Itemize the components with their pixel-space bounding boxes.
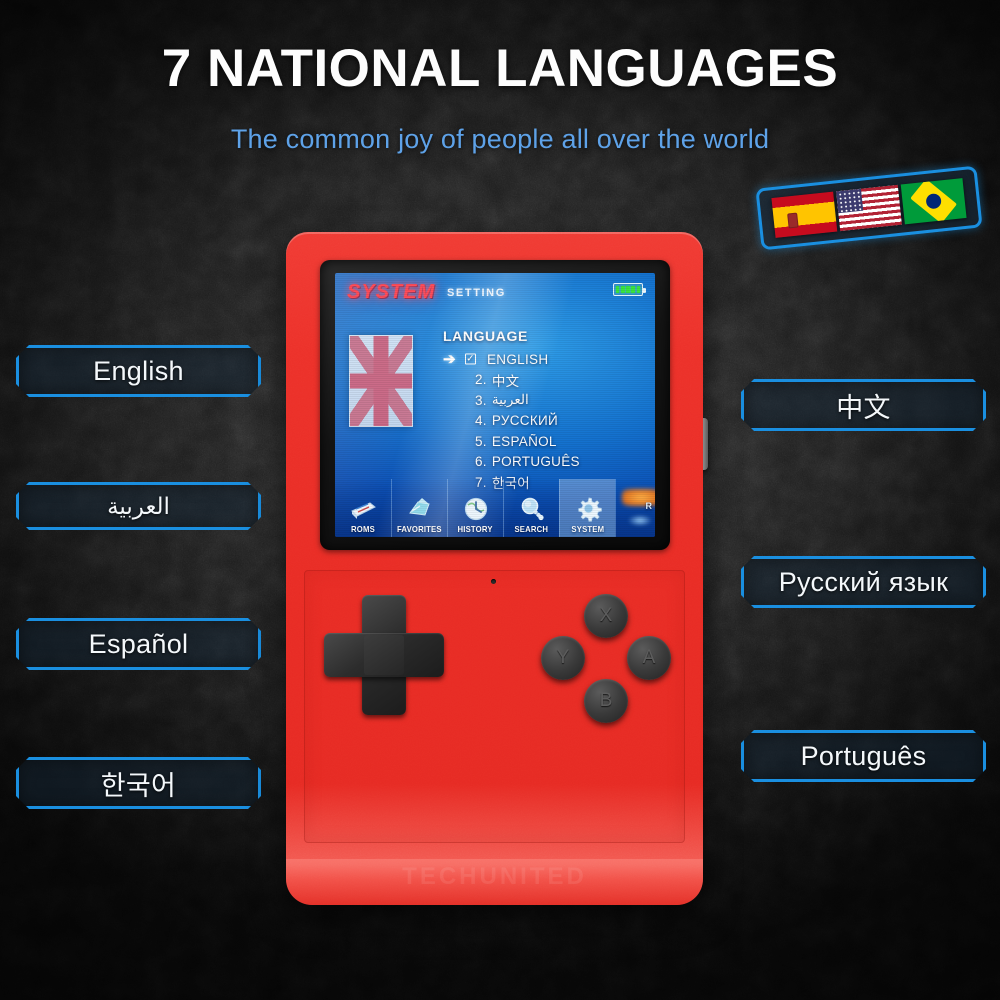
handheld-console: SYSTEM SETTING LANGUAGE ➔ ✓ ENGLISH (286, 232, 703, 905)
button-y[interactable]: Y (541, 636, 585, 680)
nav-partial-label: R (646, 501, 653, 511)
chip-label: Português (801, 741, 927, 772)
nav-item-history[interactable]: HISTORY (447, 479, 503, 537)
language-label: PORTUGUÊS (492, 454, 580, 469)
usa-flag-icon (836, 185, 902, 231)
button-label: X (600, 605, 613, 627)
union-jack-flag-icon (349, 335, 413, 427)
language-label: العربية (492, 392, 529, 408)
chip-chinese: 中文 (741, 379, 986, 431)
language-menu-list: ➔ ✓ ENGLISH 2. 中文 3. العربية 4. РУССКИ (443, 349, 643, 493)
history-icon (461, 495, 491, 523)
button-b[interactable]: B (584, 679, 628, 723)
nav-label: ROMS (351, 524, 375, 534)
chip-russian: Русский язык (741, 556, 986, 608)
nav-item-partial[interactable]: R (615, 479, 655, 537)
nav-label: HISTORY (458, 524, 493, 534)
screen-subtitle: SETTING (447, 287, 506, 299)
chip-label: Русский язык (779, 567, 949, 598)
language-number: 4. (475, 413, 487, 428)
button-label: Y (557, 647, 570, 669)
brazil-flag-icon (901, 178, 967, 224)
nav-item-search[interactable]: SEARCH (503, 479, 559, 537)
language-label: РУССКИЙ (492, 413, 558, 428)
chip-english: English (16, 345, 261, 397)
selection-arrow-icon: ➔ (443, 350, 456, 368)
language-number: 3. (475, 393, 487, 408)
screen-nav-bar: ROMS FAVORITES (335, 479, 655, 537)
language-option-russian[interactable]: 4. РУССКИЙ (443, 411, 643, 432)
chip-label: Español (89, 629, 189, 660)
language-label: ESPAÑOL (492, 434, 557, 449)
gear-icon (573, 495, 603, 523)
language-label: 中文 (492, 370, 520, 390)
language-number: 2. (475, 372, 487, 387)
roms-icon (348, 495, 378, 523)
button-label: B (600, 690, 613, 712)
chip-korean: 한국어 (16, 757, 261, 809)
spain-flag-icon (771, 192, 837, 238)
nav-label: SYSTEM (571, 524, 604, 534)
search-icon (517, 495, 547, 523)
battery-icon (613, 283, 643, 296)
chip-arabic: العربية (16, 482, 261, 530)
page-title: 7 NATIONAL LANGUAGES (0, 38, 1000, 99)
dpad-center (364, 635, 404, 675)
nav-item-system[interactable]: SYSTEM (559, 479, 615, 537)
checkbox-icon: ✓ (465, 354, 476, 365)
partial-thumbnail-shadow (628, 515, 652, 526)
language-option-portuguese[interactable]: 6. PORTUGUÊS (443, 452, 643, 473)
microphone-hole (491, 579, 496, 584)
nav-label: SEARCH (515, 524, 549, 534)
button-a[interactable]: A (627, 636, 671, 680)
button-x[interactable]: X (584, 594, 628, 638)
dpad[interactable] (324, 595, 444, 715)
chip-label: English (93, 356, 184, 387)
language-number: 5. (475, 434, 487, 449)
language-menu-heading: LANGUAGE (443, 328, 528, 344)
language-option-arabic[interactable]: 3. العربية (443, 390, 643, 411)
button-label: A (643, 647, 656, 669)
screen-title: SYSTEM (347, 281, 435, 304)
chip-portuguese: Português (741, 730, 986, 782)
language-option-chinese[interactable]: 2. 中文 (443, 370, 643, 391)
chip-label: 中文 (836, 386, 891, 425)
chip-label: 한국어 (101, 764, 176, 803)
poster-stage: 7 NATIONAL LANGUAGES The common joy of p… (0, 0, 1000, 1000)
page-subtitle: The common joy of people all over the wo… (0, 124, 1000, 155)
favorites-icon (405, 495, 435, 523)
lcd-screen: SYSTEM SETTING LANGUAGE ➔ ✓ ENGLISH (335, 273, 655, 537)
screen-bezel: SYSTEM SETTING LANGUAGE ➔ ✓ ENGLISH (320, 260, 670, 550)
flag-badge (755, 166, 982, 251)
language-option-spanish[interactable]: 5. ESPAÑOL (443, 431, 643, 452)
language-number: 6. (475, 454, 487, 469)
nav-item-roms[interactable]: ROMS (335, 479, 391, 537)
chip-label: العربية (107, 493, 170, 520)
language-label: ENGLISH (487, 352, 548, 367)
chip-spanish: Español (16, 618, 261, 670)
nav-item-favorites[interactable]: FAVORITES (391, 479, 447, 537)
nav-label: FAVORITES (397, 524, 442, 534)
language-option-english[interactable]: ➔ ✓ ENGLISH (443, 349, 643, 370)
watermark: TECHUNITED (286, 863, 703, 891)
